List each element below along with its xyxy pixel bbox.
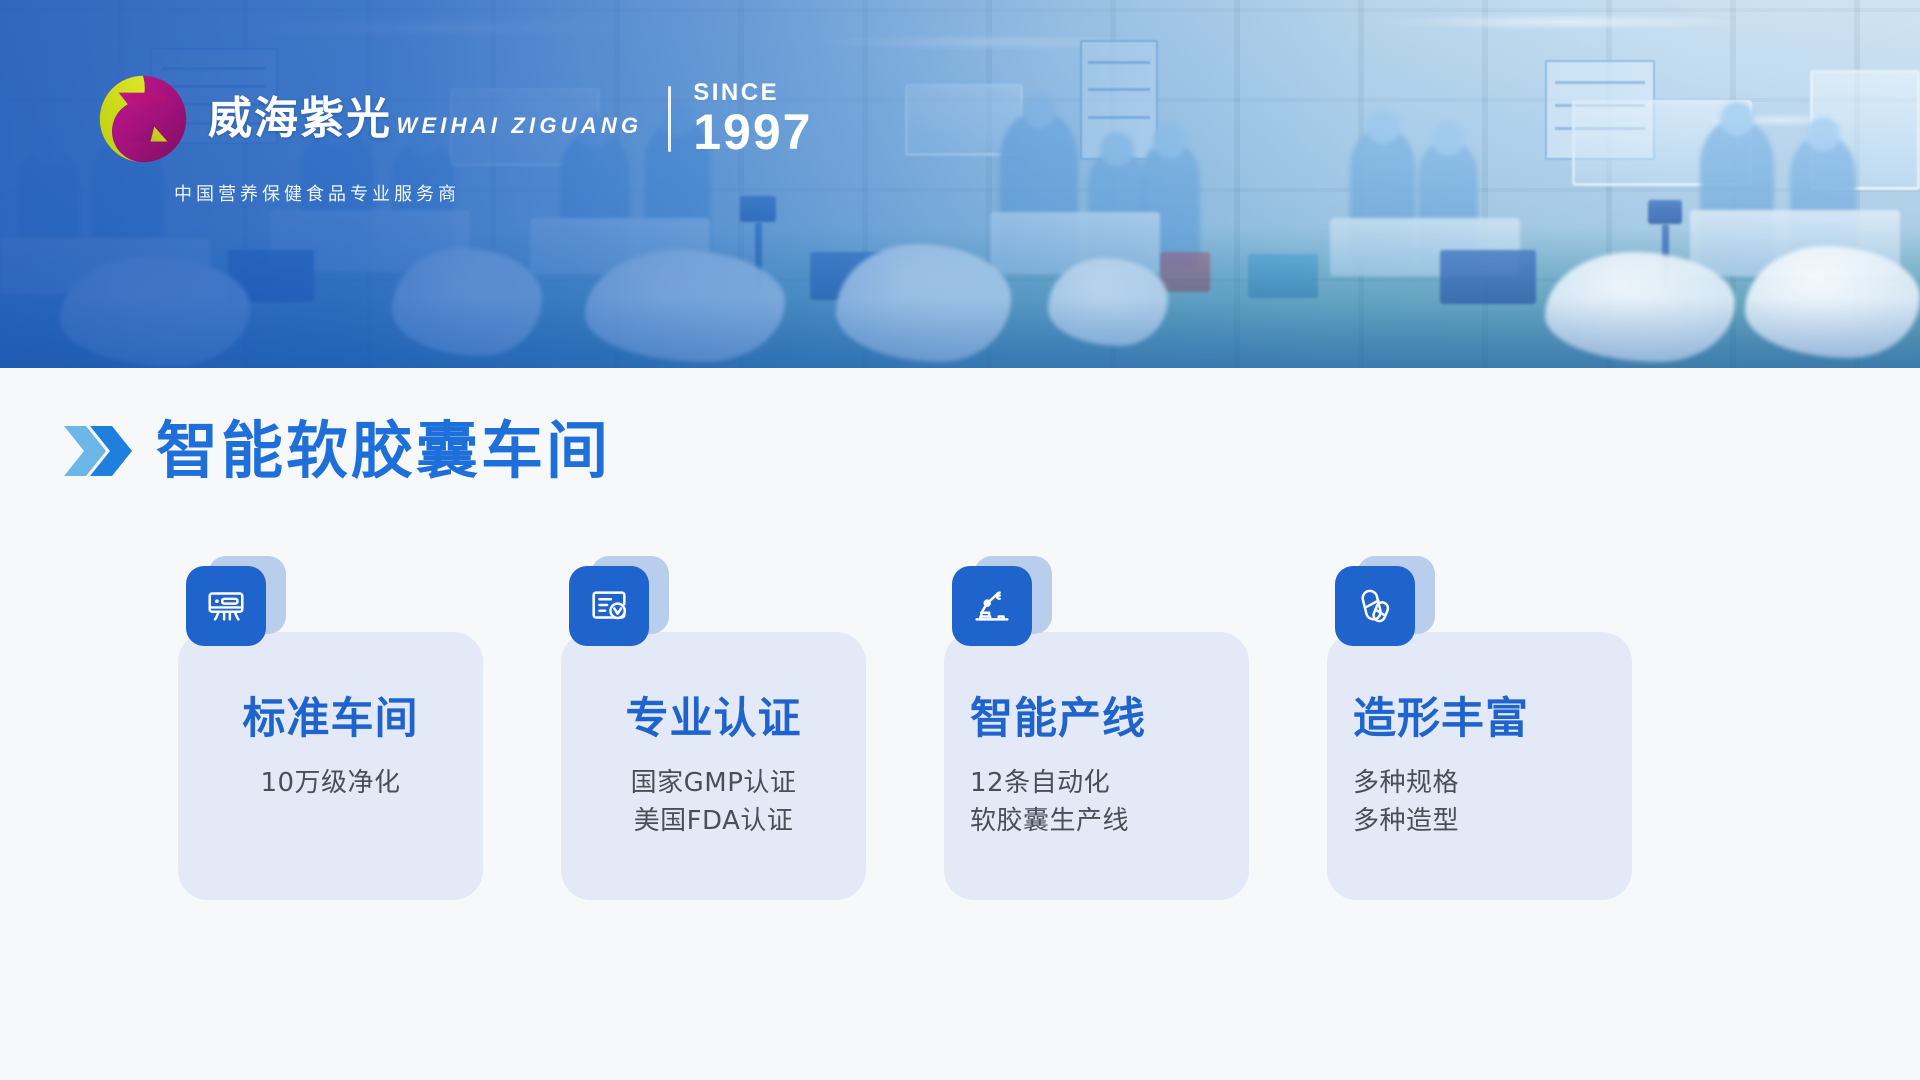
logo-tagline: 中国营养保健食品专业服务商	[174, 180, 460, 206]
capsule-pill-icon	[1335, 566, 1415, 646]
since-year: 1997	[693, 107, 812, 157]
card-title: 造形丰富	[1353, 696, 1606, 743]
company-logo: 威海紫光 WEIHAI ZIGUANG SINCE 1997 中国营养保健食品专…	[96, 72, 812, 206]
since-label: SINCE	[693, 81, 812, 105]
page-title: 智能软胶囊车间	[156, 420, 611, 482]
feature-card-standard-workshop[interactable]: 标准车间 10万级净化	[178, 564, 483, 900]
since-block: SINCE 1997	[693, 81, 812, 157]
ziguang-z-swirl-logo-icon	[96, 72, 190, 166]
card-description: 国家GMP认证 美国FDA认证	[587, 765, 840, 840]
logo-wordmark: 威海紫光 WEIHAI ZIGUANG	[208, 96, 642, 142]
feature-card-shapes[interactable]: 造形丰富 多种规格 多种造型	[1327, 564, 1632, 900]
logo-name-en: WEIHAI ZIGUANG	[396, 113, 642, 138]
logo-name-cn: 威海紫光	[208, 93, 392, 144]
logo-divider	[668, 86, 671, 152]
section-heading: 智能软胶囊车间	[62, 420, 611, 482]
card-description: 12条自动化 软胶囊生产线	[970, 765, 1223, 840]
hero-banner: 威海紫光 WEIHAI ZIGUANG SINCE 1997 中国营养保健食品专…	[0, 0, 1920, 368]
air-conditioner-cleanroom-icon	[186, 566, 266, 646]
card-body: 专业认证 国家GMP认证 美国FDA认证	[561, 632, 866, 900]
double-chevron-right-icon	[62, 420, 132, 482]
card-title: 智能产线	[970, 696, 1223, 743]
certificate-badge-icon	[569, 566, 649, 646]
card-icon-wrap	[1335, 564, 1427, 656]
card-icon-wrap	[186, 564, 278, 656]
card-body: 造形丰富 多种规格 多种造型	[1327, 632, 1632, 900]
card-body: 智能产线 12条自动化 软胶囊生产线	[944, 632, 1249, 900]
card-icon-wrap	[952, 564, 1044, 656]
robot-arm-icon	[952, 566, 1032, 646]
card-body: 标准车间 10万级净化	[178, 632, 483, 900]
card-description: 10万级净化	[204, 765, 457, 803]
card-description: 多种规格 多种造型	[1353, 765, 1606, 840]
card-title: 专业认证	[587, 696, 840, 743]
feature-card-smart-line[interactable]: 智能产线 12条自动化 软胶囊生产线	[944, 564, 1249, 900]
main-content: 智能软胶囊车间	[0, 368, 1920, 1080]
feature-card-list: 标准车间 10万级净化	[0, 564, 1920, 900]
card-icon-wrap	[569, 564, 661, 656]
feature-card-certification[interactable]: 专业认证 国家GMP认证 美国FDA认证	[561, 564, 866, 900]
logo-row: 威海紫光 WEIHAI ZIGUANG SINCE 1997	[96, 72, 812, 166]
card-title: 标准车间	[204, 696, 457, 743]
banner-bottom-fade	[0, 298, 1920, 368]
